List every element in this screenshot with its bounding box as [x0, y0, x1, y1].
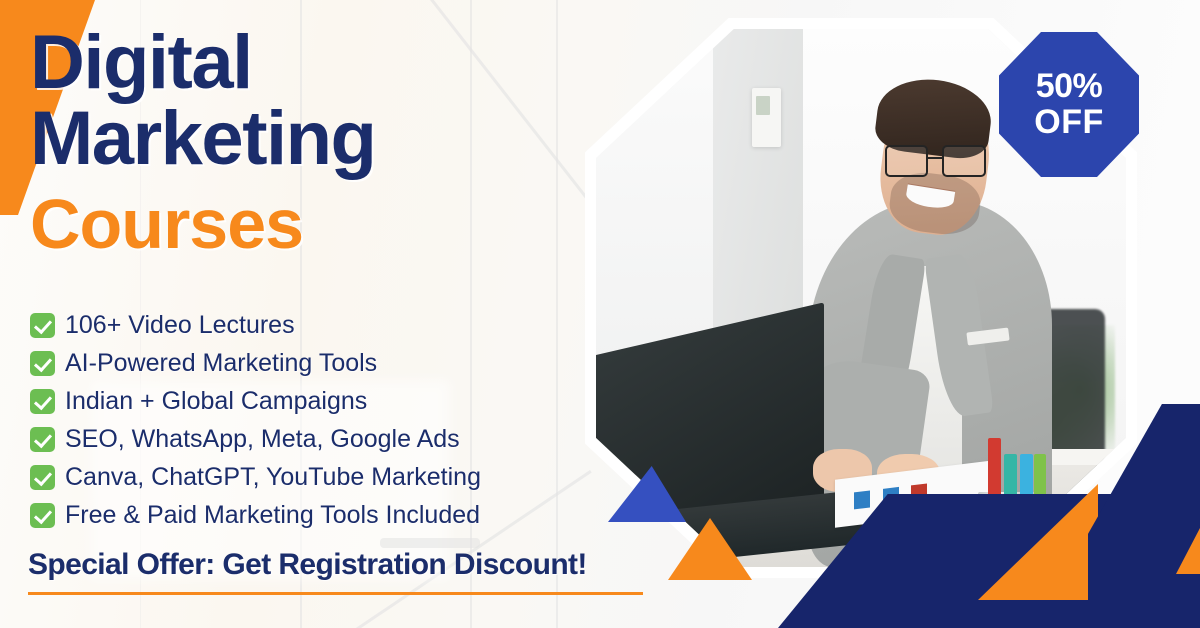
- discount-off-label: OFF: [1034, 105, 1103, 141]
- feature-label: Indian + Global Campaigns: [65, 389, 367, 414]
- check-icon: [30, 389, 55, 414]
- list-item: 106+ Video Lectures: [30, 306, 610, 344]
- feature-label: SEO, WhatsApp, Meta, Google Ads: [65, 427, 460, 452]
- photo-thermostat: [752, 88, 781, 147]
- headline-line-1: Digital: [30, 26, 590, 100]
- offer-underline: [28, 592, 643, 595]
- check-icon: [30, 465, 55, 490]
- offer-text: Special Offer: Get Registration Discount…: [28, 548, 668, 582]
- check-icon: [30, 427, 55, 452]
- feature-label: Free & Paid Marketing Tools Included: [65, 503, 480, 528]
- discount-percent: 50%: [1036, 69, 1103, 105]
- list-item: Free & Paid Marketing Tools Included: [30, 496, 610, 534]
- photo-pen-red: [988, 438, 1001, 503]
- promo-banner: Digital Marketing Courses 106+ Video Lec…: [0, 0, 1200, 628]
- background-ceiling-bar: [380, 538, 480, 548]
- headline-block: Digital Marketing Courses: [30, 26, 590, 259]
- check-icon: [30, 313, 55, 338]
- feature-label: AI-Powered Marketing Tools: [65, 351, 377, 376]
- check-icon: [30, 503, 55, 528]
- discount-badge: 50% OFF: [999, 32, 1139, 177]
- check-icon: [30, 351, 55, 376]
- photo-person-glasses: [885, 145, 986, 177]
- feature-list: 106+ Video Lectures AI-Powered Marketing…: [30, 306, 610, 534]
- list-item: AI-Powered Marketing Tools: [30, 344, 610, 382]
- list-item: Canva, ChatGPT, YouTube Marketing: [30, 458, 610, 496]
- feature-label: Canva, ChatGPT, YouTube Marketing: [65, 465, 481, 490]
- list-item: SEO, WhatsApp, Meta, Google Ads: [30, 420, 610, 458]
- headline-subline: Courses: [30, 189, 590, 259]
- feature-label: 106+ Video Lectures: [65, 313, 295, 338]
- headline-line-2: Marketing: [30, 102, 590, 176]
- offer-block: Special Offer: Get Registration Discount…: [28, 548, 668, 595]
- list-item: Indian + Global Campaigns: [30, 382, 610, 420]
